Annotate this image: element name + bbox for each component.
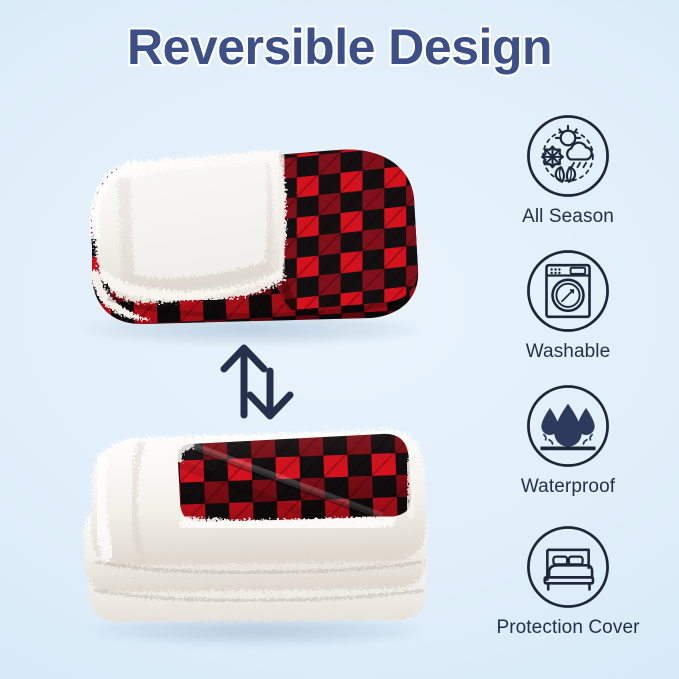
bed-icon	[525, 524, 611, 610]
feature-label: Waterproof	[466, 476, 670, 498]
page-title: Reversible Design	[0, 18, 679, 76]
top-blanket-illustration	[78, 120, 426, 345]
water-droplets-icon	[525, 383, 611, 469]
bottom-blanket-illustration	[82, 420, 430, 645]
feature-item-waterproof: Waterproof	[466, 383, 670, 498]
feature-item-washable: Washable	[466, 248, 670, 363]
feature-item-all-season: All Season	[466, 113, 670, 228]
feature-label: All Season	[466, 206, 670, 228]
washing-machine-icon	[525, 248, 611, 334]
all-season-icon	[525, 113, 611, 199]
feature-item-protection-cover: Protection Cover	[466, 524, 670, 639]
feature-label: Protection Cover	[466, 617, 670, 639]
product-image-top-blanket	[78, 120, 426, 345]
feature-list: All Season	[466, 104, 670, 660]
product-image-bottom-blanket	[82, 420, 430, 645]
feature-label: Washable	[466, 341, 670, 363]
double-arrow-up-down-icon	[208, 341, 304, 423]
infographic-page: Reversible Design	[0, 0, 679, 679]
